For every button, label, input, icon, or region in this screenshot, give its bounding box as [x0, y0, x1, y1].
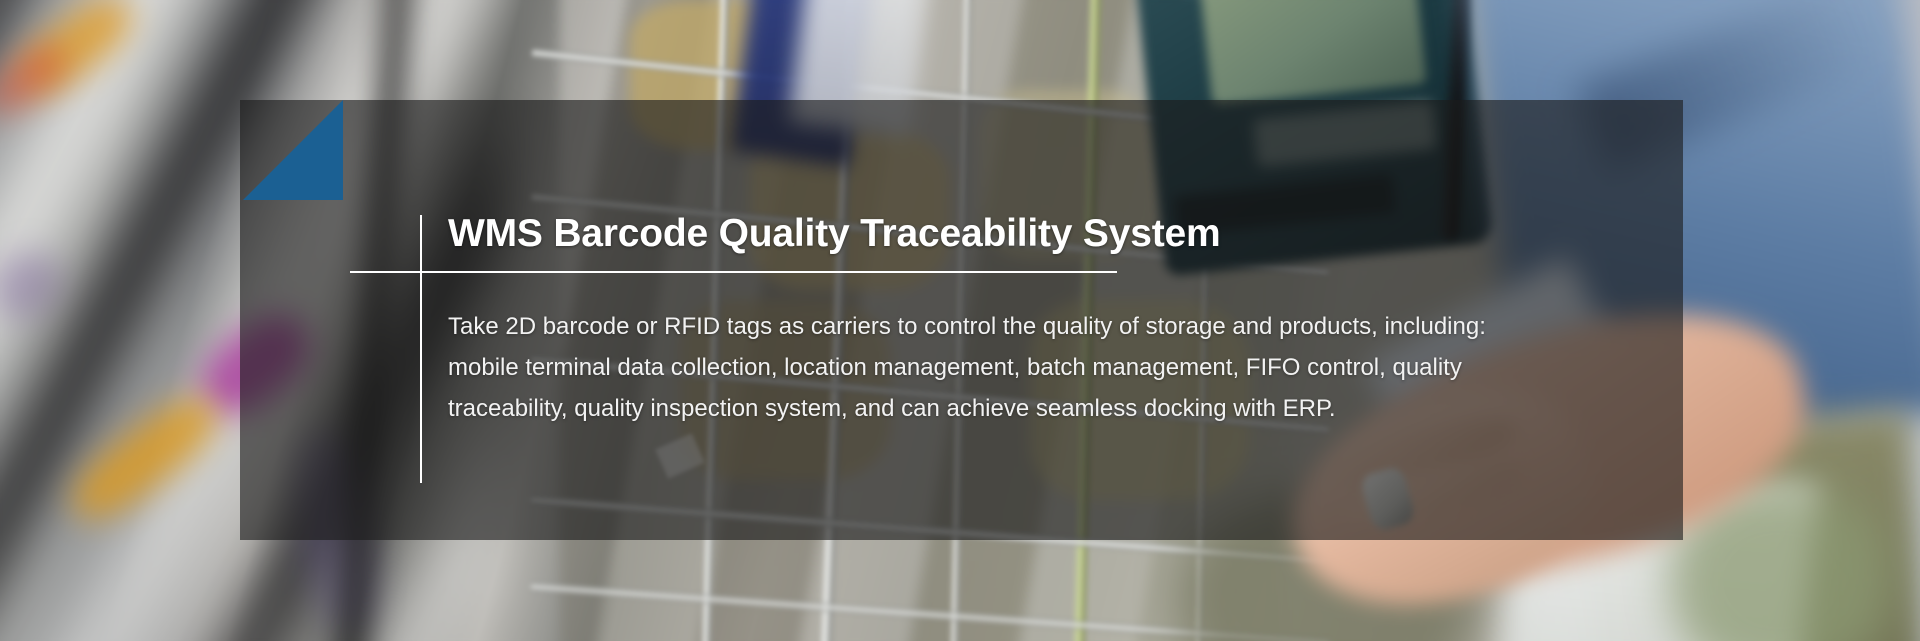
banner-description: Take 2D barcode or RFID tags as carriers…: [448, 306, 1548, 429]
banner-title: WMS Barcode Quality Traceability System: [448, 212, 1220, 256]
promo-banner: WMS Barcode Quality Traceability System …: [0, 0, 1920, 641]
banner-content: WMS Barcode Quality Traceability System …: [0, 0, 1920, 641]
